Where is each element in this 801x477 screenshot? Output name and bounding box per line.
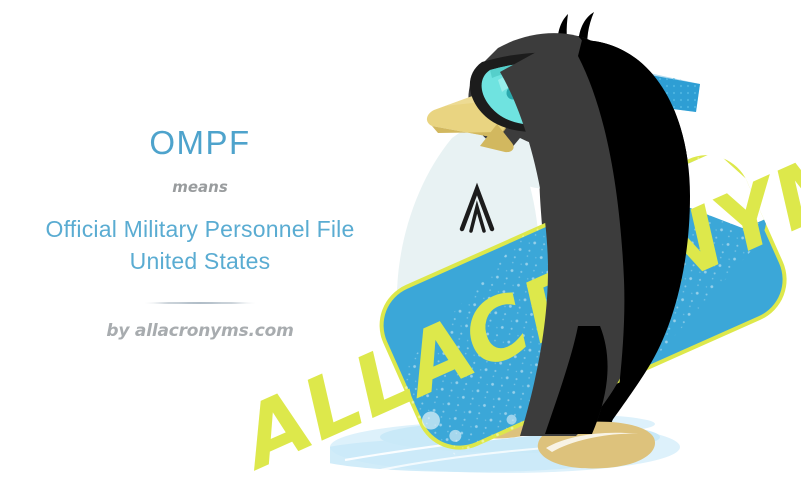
penguin-body-front-overlay (500, 40, 690, 436)
head-tufts (557, 12, 594, 54)
penguin-back-and-tail (548, 40, 690, 438)
byline-source: by allacronyms.com (106, 323, 293, 340)
penguin-flipper (539, 160, 620, 389)
divider (144, 302, 256, 304)
penguin-beak (427, 86, 514, 152)
penguin-belly (397, 110, 560, 436)
penguin-body (500, 50, 664, 436)
ski-goggles (470, 52, 700, 132)
definition-text: Official Military Personnel File United … (30, 214, 370, 277)
chest-chevron-icon (462, 189, 492, 231)
acronym-title: OMPF (149, 126, 250, 159)
definition-panel: OMPF means Official Military Personnel F… (0, 0, 400, 477)
acronym-card: ALLACRONYMS OMPF means Official Military… (0, 0, 801, 477)
penguin-head (468, 12, 628, 189)
penguin-feet (442, 396, 655, 469)
means-label: means (172, 180, 228, 195)
